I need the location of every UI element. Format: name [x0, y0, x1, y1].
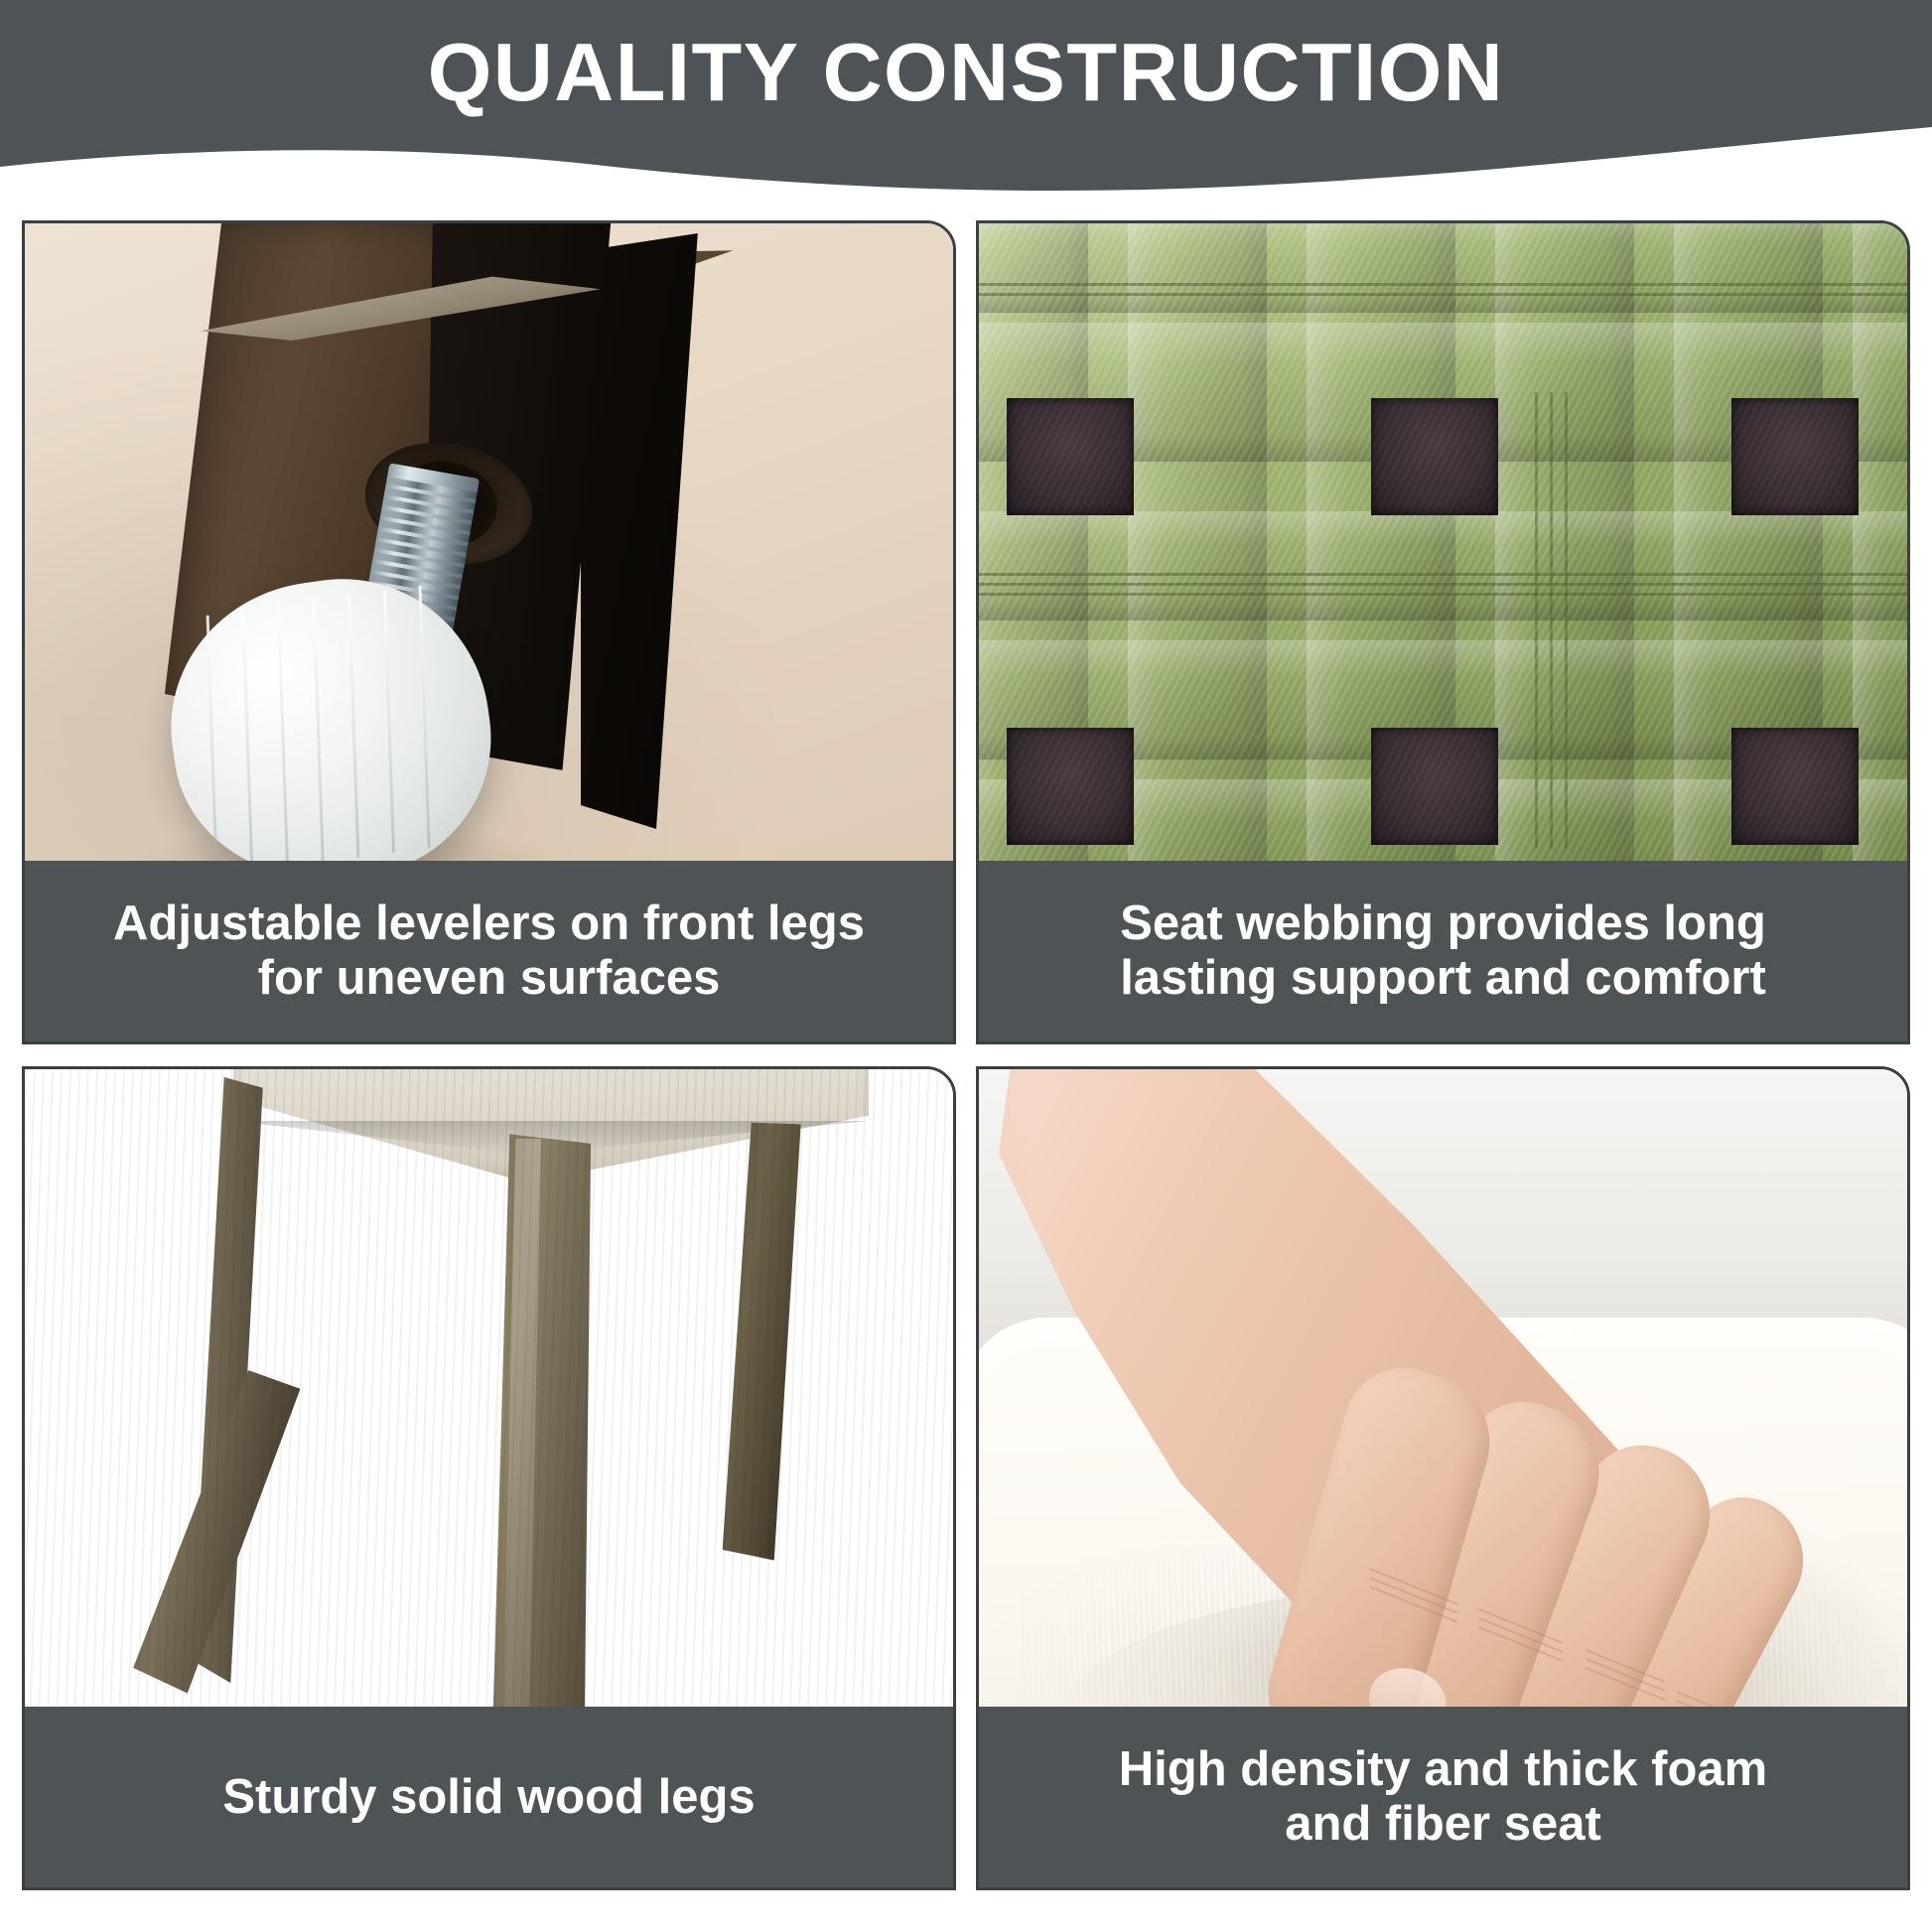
image-solid-wood-legs: [25, 1069, 953, 1707]
webbing-stitch: [979, 573, 1907, 576]
caption-solid-wood-legs: Sturdy solid wood legs: [25, 1707, 953, 1887]
panel-adjustable-levelers: Adjustable levelers on front legs for un…: [22, 220, 956, 1044]
chair-leg-center: [483, 1134, 600, 1707]
webbing-gap: [1007, 398, 1134, 515]
glide-ridge: [383, 591, 395, 853]
webbing-gap: [1731, 398, 1859, 515]
page-title: QUALITY CONSTRUCTION: [0, 0, 1932, 145]
glide-ridge: [277, 606, 289, 861]
caption-adjustable-levelers: Adjustable levelers on front legs for un…: [25, 861, 953, 1041]
caption-line-1: Seat webbing provides long: [1120, 897, 1766, 951]
feature-panels-grid: Adjustable levelers on front legs for un…: [22, 220, 1910, 1910]
panel-solid-wood-legs: Sturdy solid wood legs: [22, 1066, 956, 1890]
panel-foam-fiber-seat: High density and thick foam and fiber se…: [976, 1066, 1910, 1890]
caption-line-2: and fiber seat: [1119, 1797, 1767, 1852]
caption-seat-webbing: Seat webbing provides long lasting suppo…: [979, 861, 1907, 1041]
webbing-stitch-vertical: [1565, 392, 1568, 849]
webbing-gap: [1371, 728, 1498, 845]
webbing-stitch: [979, 293, 1907, 296]
caption-line-2: for uneven surfaces: [113, 951, 865, 1006]
webbing-horizontal-strap: [979, 223, 1907, 313]
webbing-stitch-vertical: [1535, 392, 1538, 849]
glide-ridge: [207, 616, 218, 861]
webbing-stitch: [979, 283, 1907, 286]
glide-ridge: [347, 596, 359, 858]
chair-leg-right: [722, 1122, 800, 1561]
glide-ridge: [418, 586, 430, 848]
glide-ridge: [313, 601, 325, 861]
caption-line-1: Adjustable levelers on front legs: [113, 897, 865, 951]
image-foam-fiber-seat: [979, 1069, 1907, 1707]
caption-line-1: Sturdy solid wood legs: [222, 1770, 755, 1825]
webbing-gap: [1371, 398, 1498, 515]
webbing-stitch: [979, 593, 1907, 596]
caption-line-2: lasting support and comfort: [1120, 951, 1766, 1006]
panel-seat-webbing: Seat webbing provides long lasting suppo…: [976, 220, 1910, 1044]
caption-foam-fiber-seat: High density and thick foam and fiber se…: [979, 1707, 1907, 1887]
webbing-gap: [1731, 728, 1859, 845]
header-banner: QUALITY CONSTRUCTION: [0, 0, 1932, 199]
image-adjustable-levelers: [25, 223, 953, 861]
caption-line-1: High density and thick foam: [1119, 1742, 1767, 1797]
webbing-stitch-vertical: [1550, 392, 1553, 849]
webbing-horizontal-strap: [979, 511, 1907, 621]
webbing-gap: [1007, 728, 1134, 845]
webbing-stitch: [979, 583, 1907, 586]
glide-ridge: [241, 611, 253, 861]
image-seat-webbing: [979, 223, 1907, 861]
